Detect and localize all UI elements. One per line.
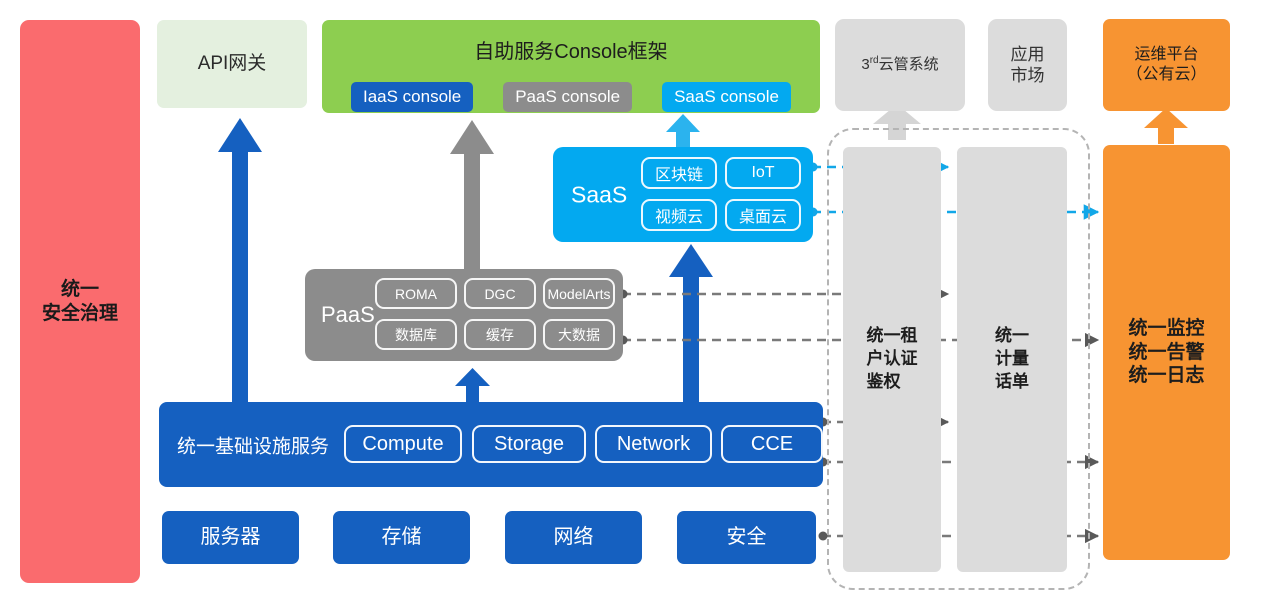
ops-platform-top-line1: 运维平台 [1126, 45, 1206, 65]
unified-tenant-auth-column: 统一租 户认证 鉴权 [843, 147, 941, 572]
third-party-cloud-mgmt-label: 3rd云管系统 [861, 55, 938, 75]
paas-item-bigdata[interactable]: 大数据 [543, 319, 615, 350]
paas-item-database[interactable]: 数据库 [375, 319, 457, 350]
arrow-middle-to-ops-platform [1144, 108, 1188, 144]
saas-stack: SaaS 区块链 IoT 视频云 桌面云 [553, 147, 813, 242]
hardware-box-storage: 存储 [333, 511, 470, 564]
unified-metering-line1: 统一 [995, 325, 1029, 348]
paas-item-dgc[interactable]: DGC [464, 278, 536, 309]
console-frame-title: 自助服务Console框架 [322, 40, 820, 65]
iaas-item-network[interactable]: Network [595, 425, 712, 463]
unified-metering-line2: 计量 [995, 348, 1029, 371]
arrow-paas-to-console [450, 120, 494, 270]
hardware-box-network: 网络 [505, 511, 642, 564]
iaas-item-storage[interactable]: Storage [472, 425, 586, 463]
unified-tenant-auth-line3: 鉴权 [867, 371, 918, 394]
unified-infrastructure-bar: 统一基础设施服务 Compute Storage Network CCE [159, 402, 823, 487]
third-party-cloud-mgmt-box: 3rd云管系统 [835, 19, 965, 111]
chip-paas-console[interactable]: PaaS console [503, 82, 632, 112]
hardware-label-security: 安全 [727, 525, 767, 550]
ops-platform-side-line3: 统一日志 [1128, 364, 1204, 388]
ops-platform-side-line1: 统一监控 [1128, 317, 1204, 341]
iaas-item-cce[interactable]: CCE [721, 425, 823, 463]
unified-tenant-auth-line1: 统一租 [867, 325, 918, 348]
saas-item-blockchain[interactable]: 区块链 [641, 157, 717, 189]
security-governance-line2: 安全治理 [42, 302, 118, 326]
iaas-item-compute[interactable]: Compute [344, 425, 462, 463]
console-chip-row: IaaS console PaaS console SaaS console [322, 82, 820, 112]
paas-item-cache[interactable]: 缓存 [464, 319, 536, 350]
hardware-label-storage: 存储 [382, 525, 422, 550]
api-gateway-box: API网关 [157, 20, 307, 108]
ops-platform-top-line2: （公有云） [1126, 65, 1206, 85]
hardware-label-network: 网络 [554, 525, 594, 550]
arrow-iaas-to-api-gateway [218, 118, 262, 406]
hardware-box-server: 服务器 [162, 511, 299, 564]
unified-infrastructure-label: 统一基础设施服务 [177, 431, 329, 458]
ops-platform-side-line2: 统一告警 [1128, 341, 1204, 365]
hardware-box-security: 安全 [677, 511, 816, 564]
paas-stack-label: PaaS [321, 302, 375, 328]
hardware-label-server: 服务器 [201, 525, 261, 550]
api-gateway-label: API网关 [198, 52, 267, 76]
app-market-line2: 市场 [1011, 65, 1045, 86]
unified-metering-line3: 话单 [995, 371, 1029, 394]
saas-stack-label: SaaS [571, 181, 627, 208]
saas-item-desktop-cloud[interactable]: 桌面云 [725, 199, 801, 231]
unified-tenant-auth-line2: 户认证 [867, 348, 918, 371]
paas-stack: PaaS ROMA DGC ModelArts 数据库 缓存 大数据 [305, 269, 623, 361]
app-market-box: 应用 市场 [988, 19, 1067, 111]
paas-item-modelarts[interactable]: ModelArts [543, 278, 615, 309]
ops-platform-top-box: 运维平台 （公有云） [1103, 19, 1230, 111]
security-governance-panel: 统一 安全治理 [20, 20, 140, 583]
saas-item-video-cloud[interactable]: 视频云 [641, 199, 717, 231]
chip-saas-console[interactable]: SaaS console [662, 82, 791, 112]
app-market-line1: 应用 [1011, 44, 1045, 65]
saas-item-iot[interactable]: IoT [725, 157, 801, 189]
arrow-iaas-to-saas [669, 244, 713, 408]
security-governance-line1: 统一 [42, 278, 118, 302]
paas-item-roma[interactable]: ROMA [375, 278, 457, 309]
architecture-diagram: 统一 安全治理 API网关 自助服务Console框架 IaaS console… [0, 0, 1265, 605]
unified-metering-billing-column: 统一 计量 话单 [957, 147, 1067, 572]
ops-platform-side-panel: 统一监控 统一告警 统一日志 [1103, 145, 1230, 560]
self-service-console-frame: 自助服务Console框架 IaaS console PaaS console … [322, 20, 820, 113]
chip-iaas-console[interactable]: IaaS console [351, 82, 473, 112]
